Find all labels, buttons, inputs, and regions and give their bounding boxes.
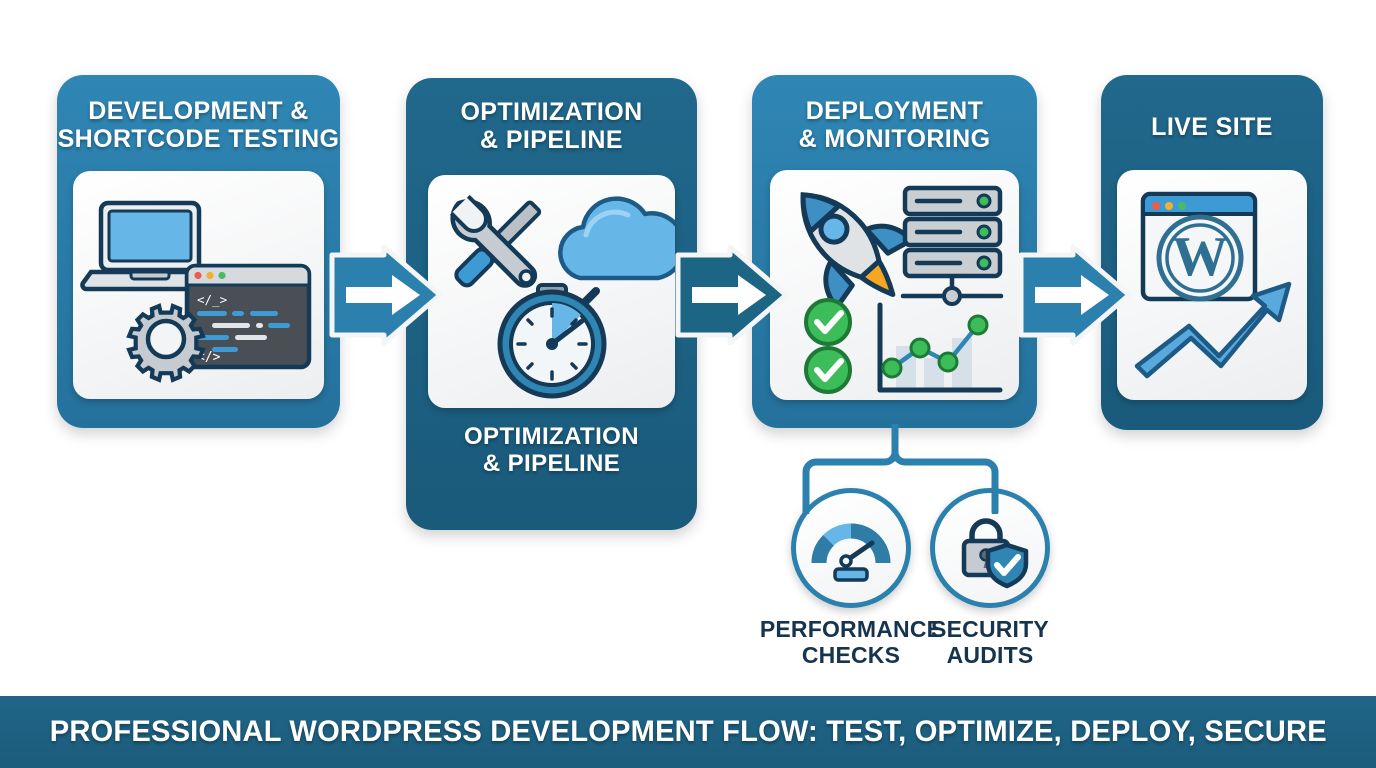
title-line-1: DEVELOPMENT & [57, 97, 340, 125]
code-window-icon: </_> </> [187, 266, 309, 367]
branch-connector-lines [690, 424, 1090, 514]
label-line-2: AUDITS [885, 642, 1095, 668]
step-card-optimization[interactable]: OPTIMIZATION & PIPELINE [406, 78, 697, 530]
svg-text:W: W [1172, 226, 1228, 288]
step-panel-deployment [770, 170, 1019, 400]
step-title-live-site: LIVE SITE [1101, 113, 1323, 141]
step-title-optimization: OPTIMIZATION & PIPELINE [406, 98, 697, 155]
step-panel-optimization [428, 175, 675, 408]
speedometer-icon [806, 503, 896, 593]
cloud-icon [560, 199, 675, 278]
step-card-deployment[interactable]: DEPLOYMENT & MONITORING [752, 75, 1037, 428]
line-chart-icon [880, 305, 1000, 390]
optimization-icon-group [428, 175, 675, 408]
footer-line-2: & PIPELINE [406, 450, 697, 477]
development-icon-group: </_> </> [73, 171, 324, 399]
title-line-1: OPTIMIZATION [406, 98, 697, 126]
lock-shield-icon [945, 503, 1035, 593]
title-line-1: DEPLOYMENT [752, 97, 1037, 125]
title-line-1: LIVE SITE [1101, 113, 1323, 141]
server-icon [903, 188, 1001, 304]
step-card-development[interactable]: DEVELOPMENT & SHORTCODE TESTING [57, 75, 340, 428]
connector-arrow-2 [672, 243, 792, 347]
check-circle-icon [806, 348, 850, 392]
branch-node-security-audits[interactable]: SECURITY AUDITS [885, 488, 1095, 668]
diagram-canvas: DEVELOPMENT & SHORTCODE TESTING [0, 0, 1376, 768]
deployment-icon-group [770, 170, 1019, 400]
step-title-deployment: DEPLOYMENT & MONITORING [752, 97, 1037, 154]
svg-text:</_>: </_> [197, 292, 227, 307]
step-title-development: DEVELOPMENT & SHORTCODE TESTING [57, 97, 340, 154]
step-panel-live-site: W [1117, 170, 1307, 400]
title-line-2: SHORTCODE TESTING [57, 125, 340, 153]
title-line-2: & PIPELINE [406, 126, 697, 154]
footer-line-1: OPTIMIZATION [406, 423, 697, 450]
step-footer-optimization: OPTIMIZATION & PIPELINE [406, 423, 697, 477]
title-line-2: & MONITORING [752, 125, 1037, 153]
label-line-1: SECURITY [885, 616, 1095, 642]
live-site-icon-group: W [1117, 170, 1307, 400]
stopwatch-icon [500, 285, 604, 396]
security-audits-label: SECURITY AUDITS [885, 616, 1095, 669]
step-panel-development: </_> </> [73, 171, 324, 399]
bottom-banner: PROFESSIONAL WORDPRESS DEVELOPMENT FLOW:… [0, 696, 1376, 768]
banner-text: PROFESSIONAL WORDPRESS DEVELOPMENT FLOW:… [49, 715, 1326, 749]
wordpress-logo-icon: W [1159, 217, 1241, 299]
tools-icon [444, 193, 545, 294]
check-circle-icon [806, 300, 850, 344]
connector-arrow-1 [326, 243, 446, 347]
connector-arrow-3 [1015, 243, 1135, 347]
